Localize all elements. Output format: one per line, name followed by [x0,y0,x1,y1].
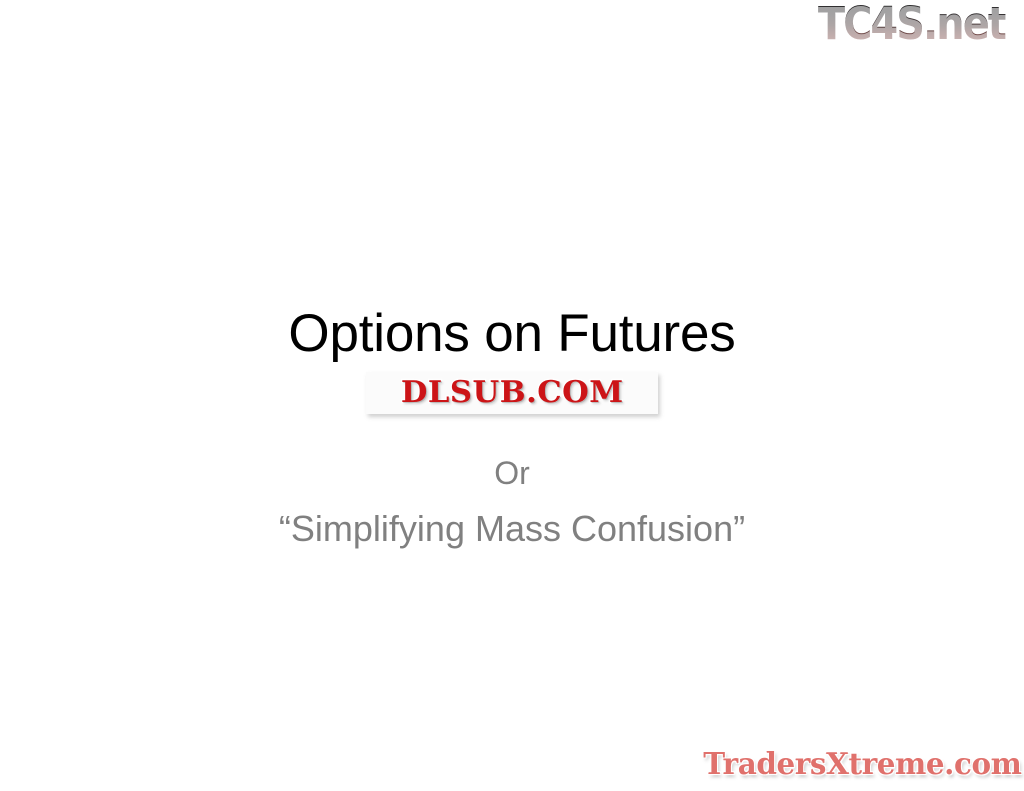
subtitle-line-1: Or [0,452,1024,494]
tc4s-logo-shadow: TC4S.net [819,0,1006,51]
dlsub-watermark: DLSUB.COM [366,372,658,414]
presentation-slide: TC4S.net TC4S.net Options on Futures DLS… [0,0,1024,791]
tc4s-logo: TC4S.net TC4S.net [818,0,1024,56]
tradersxtreme-watermark-text: TradersXtreme.com [703,748,1021,782]
subtitle-line-2: “Simplifying Mass Confusion” [0,506,1024,552]
page-title-text: Options on Futures [0,303,1024,365]
dlsub-watermark-text: DLSUB.COM [401,377,624,409]
slide-subtitle: Or “Simplifying Mass Confusion” [0,452,1024,552]
page-title: Options on Futures [0,303,1024,365]
tradersxtreme-watermark: TradersXtreme.com [706,744,1018,786]
tc4s-logo-text: TC4S.net [818,0,1005,50]
